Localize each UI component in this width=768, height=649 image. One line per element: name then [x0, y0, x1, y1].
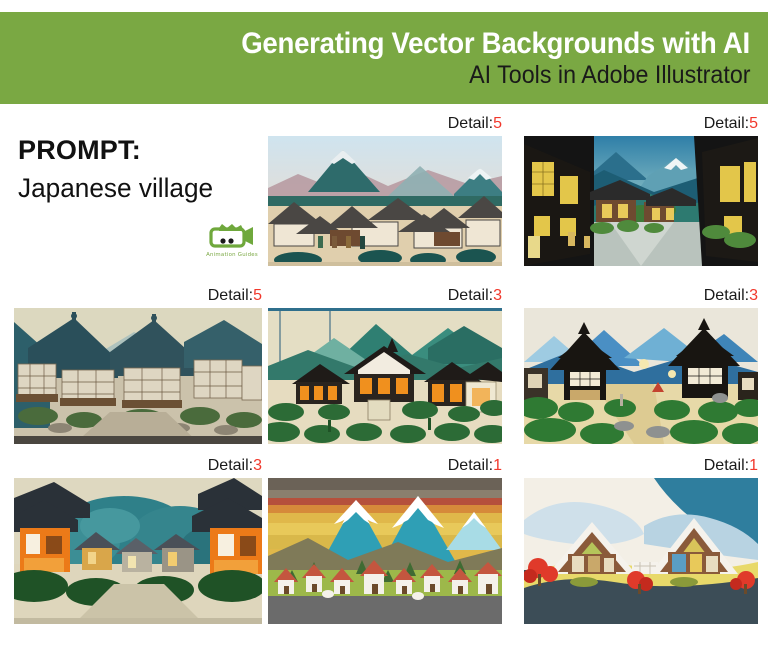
detail-label: Detail:1 — [448, 456, 502, 475]
thumbnail-image[interactable] — [268, 136, 502, 266]
camera-icon — [203, 224, 261, 251]
detail-label: Detail:3 — [448, 286, 502, 305]
gallery-cell[interactable]: Detail:3 — [14, 456, 262, 630]
detail-label-prefix: Detail: — [208, 287, 253, 304]
gallery-cell[interactable]: Detail:1 — [268, 456, 502, 630]
detail-label-prefix: Detail: — [448, 115, 493, 132]
prompt-value: Japanese village — [18, 170, 251, 206]
page-subtitle: AI Tools in Adobe Illustrator — [469, 61, 750, 90]
detail-value: 1 — [493, 457, 502, 474]
brand-logo-caption: Animation Guides — [203, 252, 261, 258]
header-banner: Generating Vector Backgrounds with AI AI… — [0, 12, 768, 104]
thumbnail-image[interactable] — [524, 478, 758, 624]
detail-label-prefix: Detail: — [704, 115, 749, 132]
detail-label: Detail:3 — [208, 456, 262, 475]
thumbnail-image[interactable] — [268, 478, 502, 624]
detail-label-prefix: Detail: — [448, 287, 493, 304]
prompt-block: PROMPT: Japanese village — [18, 134, 258, 206]
detail-label: Detail:5 — [208, 286, 262, 305]
detail-label-prefix: Detail: — [448, 457, 493, 474]
gallery-cell[interactable]: Detail:5 — [268, 114, 502, 266]
detail-value: 3 — [253, 457, 262, 474]
detail-value: 3 — [493, 287, 502, 304]
thumbnail-image[interactable] — [524, 136, 758, 266]
detail-label: Detail:1 — [704, 456, 758, 475]
detail-label-prefix: Detail: — [704, 287, 749, 304]
thumbnail-image[interactable] — [524, 308, 758, 444]
gallery-cell[interactable]: Detail:3 — [268, 286, 502, 450]
gallery-cell[interactable]: Detail:5 — [14, 286, 262, 450]
thumbnail-image[interactable] — [14, 308, 262, 444]
detail-label-prefix: Detail: — [704, 457, 749, 474]
detail-label-prefix: Detail: — [208, 457, 253, 474]
gallery-cell[interactable]: Detail:1 — [524, 456, 758, 630]
detail-label: Detail:5 — [704, 114, 758, 133]
thumbnail-image[interactable] — [14, 478, 262, 624]
page-title: Generating Vector Backgrounds with AI — [241, 27, 750, 61]
detail-value: 3 — [749, 287, 758, 304]
brand-logo: Animation Guides — [203, 224, 261, 264]
prompt-label: PROMPT: — [18, 134, 258, 166]
detail-value: 5 — [749, 115, 758, 132]
gallery-cell[interactable]: Detail:3 — [524, 286, 758, 450]
thumbnail-image[interactable] — [268, 308, 502, 444]
gallery-cell[interactable]: Detail:5 — [524, 114, 758, 266]
detail-value: 5 — [493, 115, 502, 132]
detail-value: 5 — [253, 287, 262, 304]
detail-label: Detail:3 — [704, 286, 758, 305]
detail-label: Detail:5 — [448, 114, 502, 133]
detail-value: 1 — [749, 457, 758, 474]
